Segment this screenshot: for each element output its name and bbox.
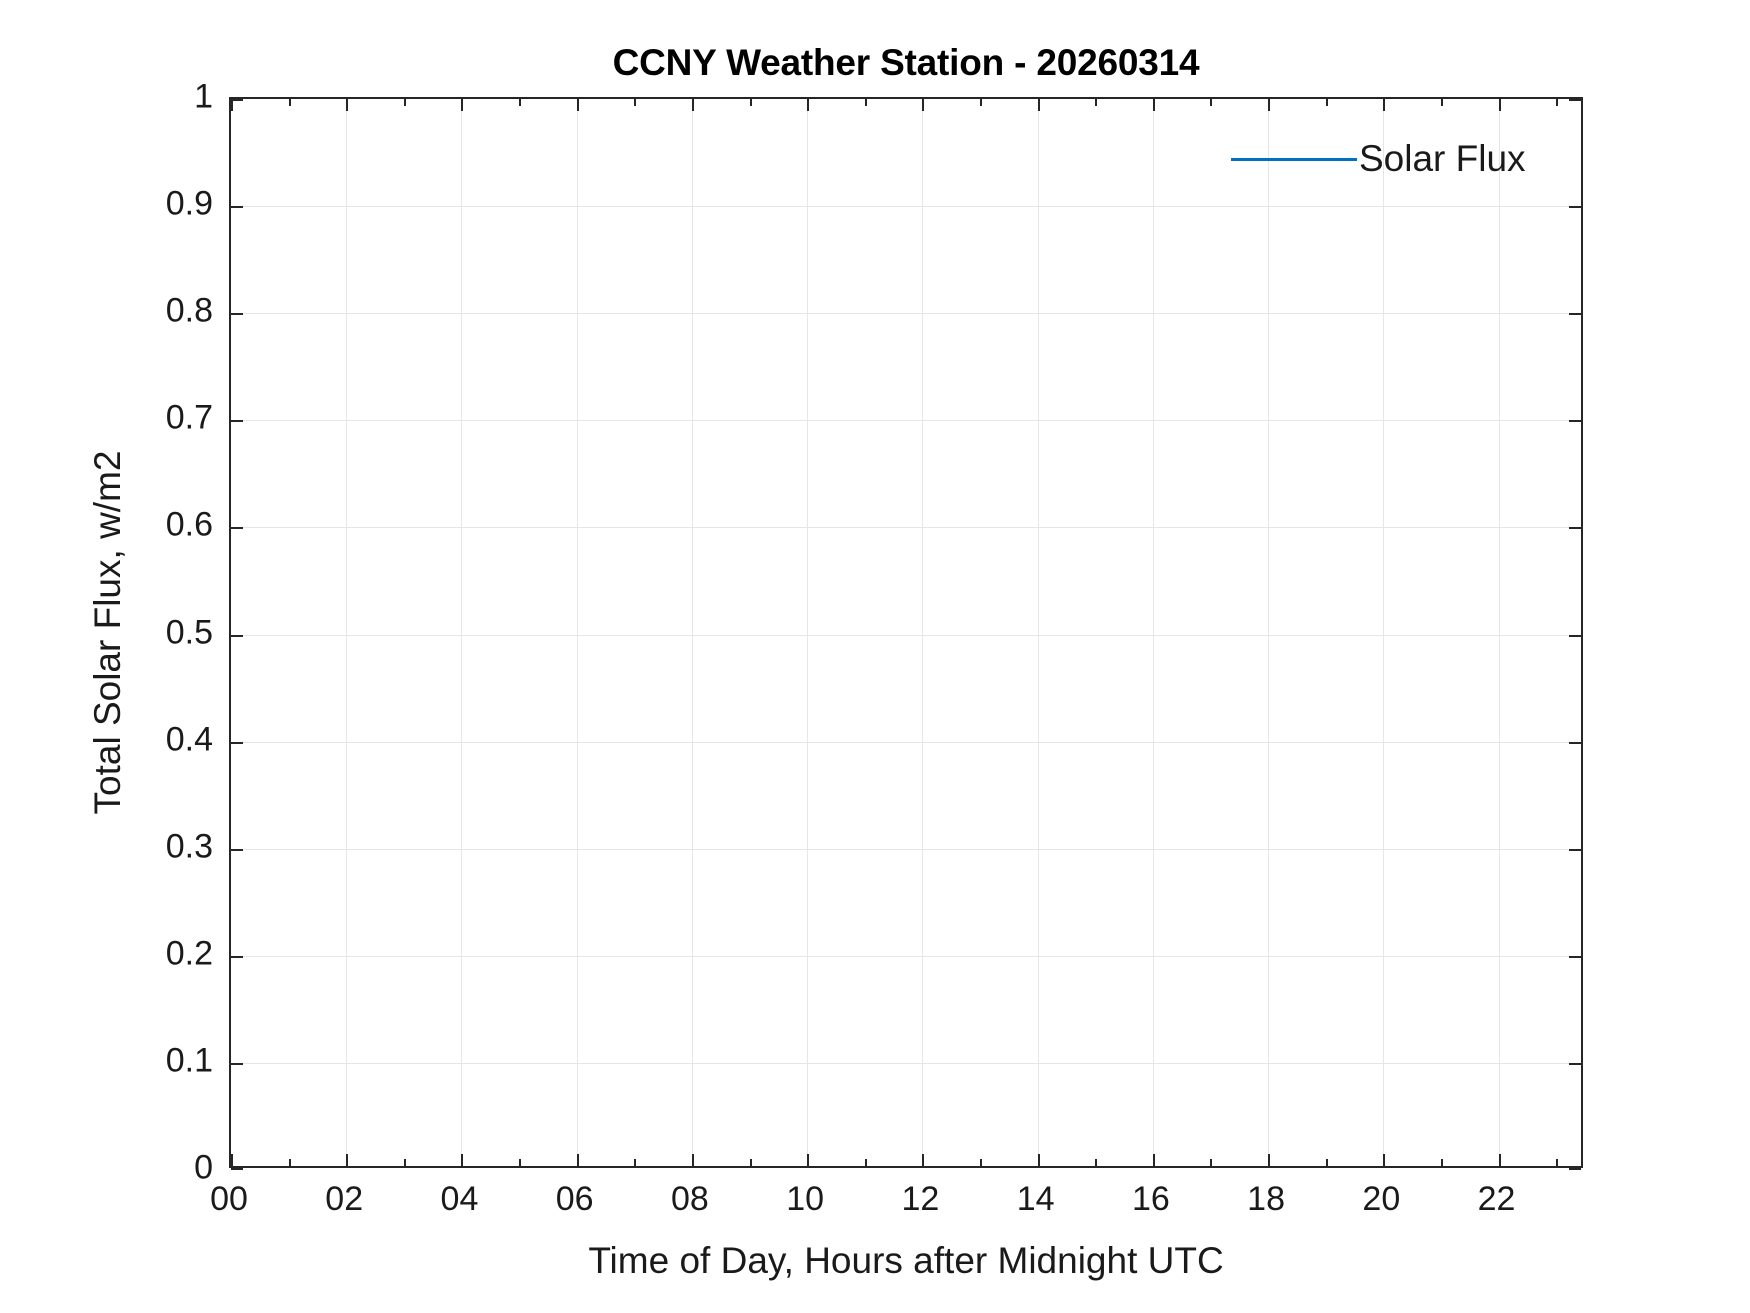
y-tick-label: 0.7 [166, 399, 213, 438]
x-tick-label: 04 [399, 1180, 519, 1219]
x-tick-label: 20 [1321, 1180, 1441, 1219]
legend-line-icon [1231, 158, 1357, 161]
y-tick-label: 0.6 [166, 506, 213, 545]
series-layer [231, 99, 1585, 1170]
y-tick-label: 0.4 [166, 720, 213, 759]
y-tick-label: 1 [194, 78, 213, 117]
legend-sample-solar-flux [1225, 142, 1357, 176]
y-tick-label: 0.9 [166, 185, 213, 224]
y-axis-label: Total Solar Flux, w/m2 [78, 97, 138, 1168]
chart-title: CCNY Weather Station - 20260314 [229, 42, 1583, 84]
y-tick-label: 0 [194, 1149, 213, 1188]
x-tick-label: 14 [976, 1180, 1096, 1219]
x-tick-label: 00 [169, 1180, 289, 1219]
x-tick-label: 18 [1206, 1180, 1326, 1219]
legend[interactable]: Solar Flux [1225, 128, 1570, 190]
x-tick-label: 06 [515, 1180, 635, 1219]
x-tick-label: 12 [860, 1180, 980, 1219]
x-tick-label: 16 [1091, 1180, 1211, 1219]
y-tick-label: 0.3 [166, 827, 213, 866]
figure-canvas: CCNY Weather Station - 20260314 00020406… [0, 0, 1750, 1313]
x-tick-label: 08 [630, 1180, 750, 1219]
x-tick-label: 22 [1437, 1180, 1557, 1219]
y-tick-label: 0.1 [166, 1041, 213, 1080]
x-axis-label: Time of Day, Hours after Midnight UTC [229, 1240, 1583, 1282]
legend-label-solar-flux: Solar Flux [1357, 138, 1526, 180]
y-tick-label: 0.8 [166, 292, 213, 331]
y-tick-label: 0.2 [166, 934, 213, 973]
x-tick-label: 10 [745, 1180, 865, 1219]
plot-area[interactable] [229, 97, 1583, 1168]
x-tick-label: 02 [284, 1180, 404, 1219]
y-tick-label: 0.5 [166, 613, 213, 652]
